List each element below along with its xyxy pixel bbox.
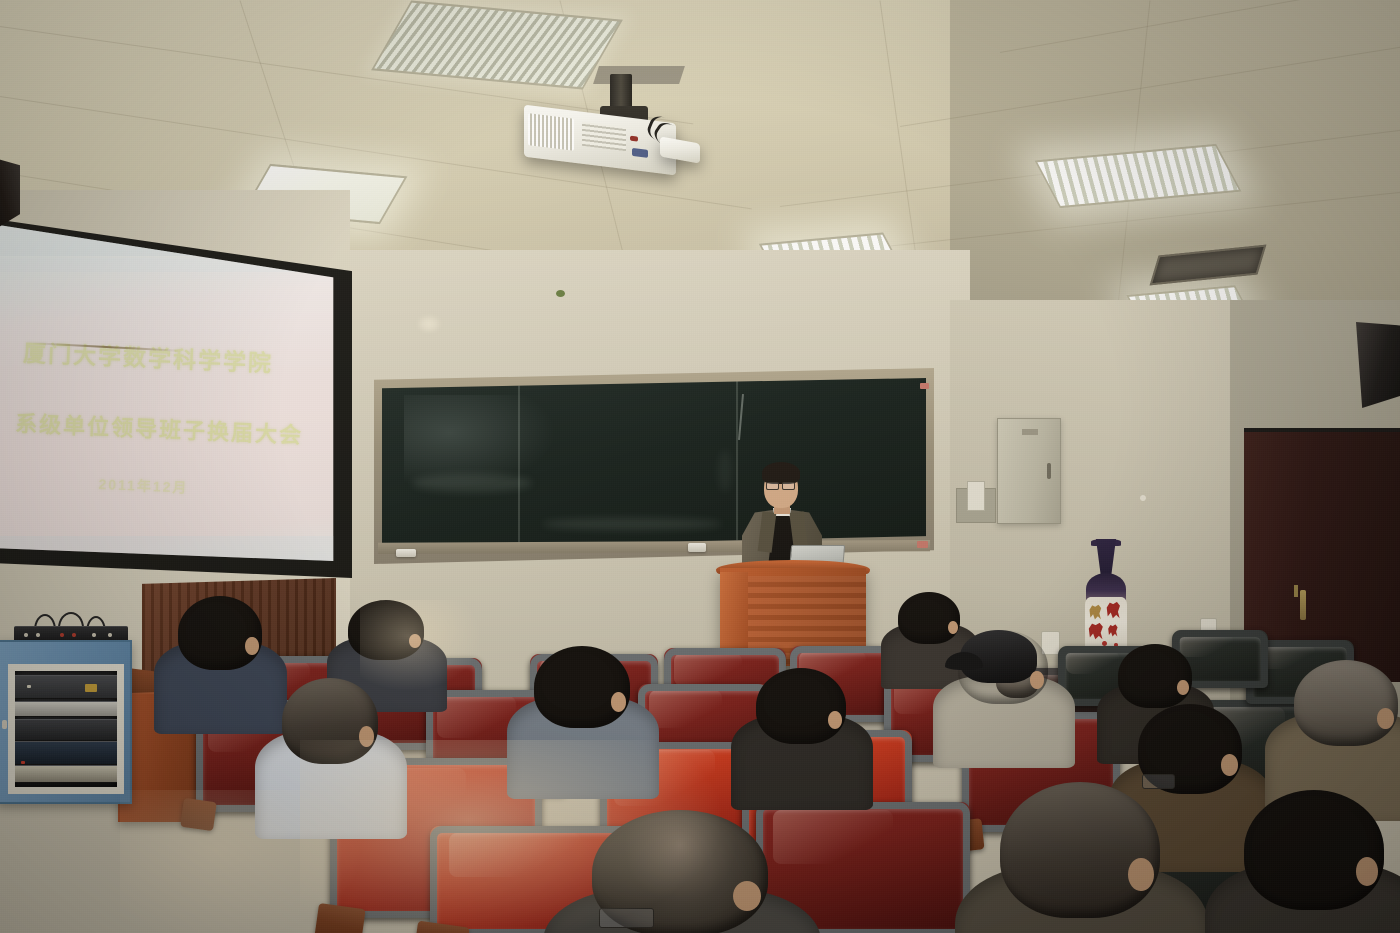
attendee-ear: [948, 621, 958, 633]
vase-horse-motif: [1107, 623, 1119, 637]
projector-label: [582, 122, 626, 151]
attendee-ear: [409, 634, 421, 648]
attendee-head: [282, 678, 378, 764]
cabinet-handle[interactable]: [1047, 463, 1051, 479]
blue-av-equipment-rack[interactable]: [0, 640, 132, 804]
seat-armrest[interactable]: [180, 798, 217, 831]
chinese-porcelain-floor-vase: [1080, 539, 1132, 653]
attendee-front-left-blue-shirt: [178, 596, 262, 750]
pull-down-projection-screen: 厦门大学数学科学学院 系级单位领导班子换届大会 2011年12月: [0, 206, 352, 578]
attendee-head: [178, 596, 262, 670]
attendee-foreground-balding: [592, 810, 768, 933]
attendee-head: [348, 600, 424, 660]
attendee-dark-suit-mid: [756, 668, 846, 824]
attendee-bottom-right-corner: [1244, 790, 1384, 933]
wall-blemish: [1140, 495, 1146, 501]
wall-blemish: [556, 290, 565, 297]
brass-door-handle[interactable]: [1300, 590, 1306, 620]
attendee-head: [534, 646, 630, 728]
attendee-head: [1000, 782, 1160, 918]
screen-surface: 厦门大学数学科学学院 系级单位领导班子换届大会 2011年12月: [0, 206, 342, 572]
attendee-ear: [733, 881, 761, 911]
projector-vga-port: [632, 148, 648, 158]
chalkboard-smudge: [542, 518, 722, 530]
presenter-hair: [762, 462, 800, 484]
slide-subtitle-text: 系级单位领导班子换届大会: [15, 406, 304, 450]
rack-lock[interactable]: [2, 720, 7, 729]
attendee-striped-shirt: [282, 678, 378, 844]
projector-vent: [528, 113, 574, 151]
attendee-foreground-right: [1000, 782, 1160, 933]
chalkboard-smudge: [718, 450, 732, 492]
attendee-ear: [1221, 754, 1238, 776]
rack-glass-door[interactable]: [8, 664, 124, 794]
chalk-stick: [917, 541, 928, 548]
attendee-head: [1118, 644, 1192, 708]
attendee-head: [1294, 660, 1398, 746]
mixer-knob[interactable]: [92, 633, 96, 637]
projector-ceiling-plate: [593, 66, 685, 84]
lecture-hall-photograph: 厦门大学数学科学学院 系级单位领导班子换届大会 2011年12月: [0, 0, 1400, 933]
rack-unit-processor: [15, 719, 117, 741]
chalk-marker-clip: [920, 383, 929, 389]
vase-horse-motif: [1087, 621, 1105, 640]
projector-video-port: [630, 136, 638, 142]
attendee-head: [1244, 790, 1384, 910]
mixer-knob[interactable]: [24, 633, 28, 637]
attendee-gray-jacket-center: [534, 646, 630, 808]
attendee-ear: [359, 726, 374, 747]
door-lock-plate: [1294, 585, 1298, 597]
attendee-ear: [828, 711, 842, 729]
rack-indicator-led: [27, 685, 31, 688]
vase-horse-motif: [1088, 603, 1103, 620]
attendee-black-cap: [958, 630, 1048, 784]
rack-unit-power: [15, 741, 117, 765]
mixer-knob[interactable]: [108, 633, 112, 637]
attendee-head: [898, 592, 960, 644]
presenter-glasses: [766, 482, 779, 490]
mixer-knob[interactable]: [72, 633, 76, 637]
gray-metal-utility-cabinet[interactable]: [997, 418, 1061, 524]
wall-mounted-speaker-right: [1356, 322, 1400, 408]
attendee-ear: [245, 637, 258, 655]
attendee-ear: [1177, 680, 1189, 695]
mixer-knob[interactable]: [60, 633, 64, 637]
attendee-ear: [1128, 858, 1154, 891]
rack-unit-dvd-player: [15, 701, 117, 717]
wall-junction-box: [956, 488, 996, 523]
rack-unit-amplifier: [15, 675, 117, 699]
cabinet-label: [1022, 429, 1038, 435]
chalkboard-smudge: [412, 474, 532, 492]
attendee-head: [756, 668, 846, 744]
rack-power-led: [21, 761, 25, 764]
slide-title-text: 厦门大学数学科学学院: [23, 334, 274, 378]
rack-display: [85, 684, 97, 692]
wall-light-glow: [418, 316, 440, 332]
seat-armrest[interactable]: [313, 903, 365, 933]
mixer-knob[interactable]: [36, 633, 40, 637]
rack-unit-spare: [15, 765, 117, 783]
presenter-glasses: [782, 482, 795, 490]
junction-box-cover: [967, 481, 985, 511]
attendee-ear: [611, 692, 626, 712]
chalk-eraser: [688, 543, 706, 552]
chalkboard: [382, 378, 926, 548]
attendee-ear: [1377, 708, 1394, 729]
attendee-glasses: [599, 908, 654, 928]
vase-horse-motif: [1105, 600, 1122, 619]
chalk-eraser: [396, 549, 416, 557]
slide-date-text: 2011年12月: [98, 474, 189, 498]
